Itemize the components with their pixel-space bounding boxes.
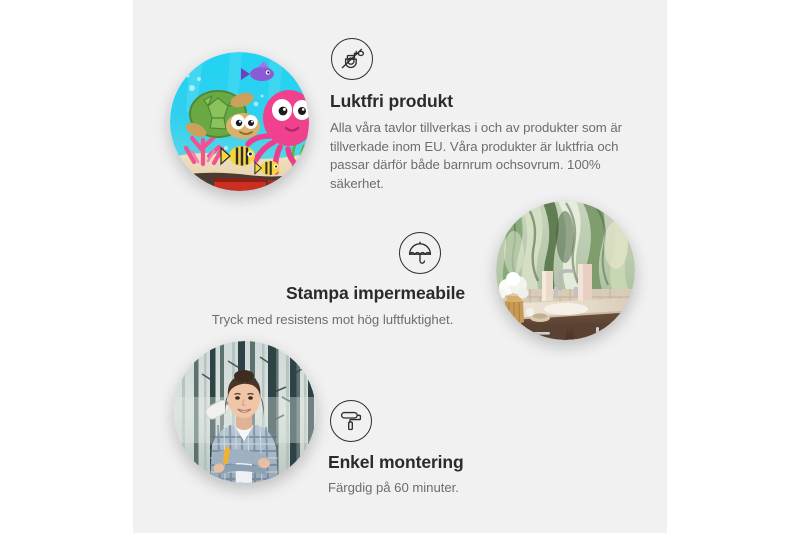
forest-portrait-photo	[174, 341, 316, 483]
photo-bathroom-tropical-wallpaper	[496, 201, 635, 340]
feature-odourless: Luktfri produkt Alla våra tavlor tillver…	[330, 38, 630, 194]
feature-waterproof: Stampa impermeabile Tryck med resistens …	[200, 232, 465, 330]
underwater-illustration	[170, 52, 309, 191]
feature-title: Enkel montering	[328, 452, 588, 474]
feature-body: Alla våra tavlor tillverkas i och av pro…	[330, 119, 622, 194]
umbrella-icon	[399, 232, 441, 274]
feature-easy-mounting: Enkel montering Färgdig på 60 minuter.	[328, 400, 588, 498]
paint-roller-icon	[330, 400, 372, 442]
feature-body: Tryck med resistens mot hög luftfuktighe…	[200, 311, 465, 330]
bathroom-photo	[496, 201, 635, 340]
feature-body: Färgdig på 60 minuter.	[328, 479, 588, 498]
photo-underwater-kids-mural	[170, 52, 309, 191]
photo-woman-with-paint-roller-forest	[174, 341, 316, 483]
feature-title: Stampa impermeabile	[200, 283, 465, 305]
feature-title: Luktfri produkt	[330, 91, 630, 113]
no-spray-bottle-icon	[331, 38, 373, 80]
feature-icon-row	[200, 232, 465, 274]
promo-feature-banner: Luktfri produkt Alla våra tavlor tillver…	[0, 0, 800, 533]
